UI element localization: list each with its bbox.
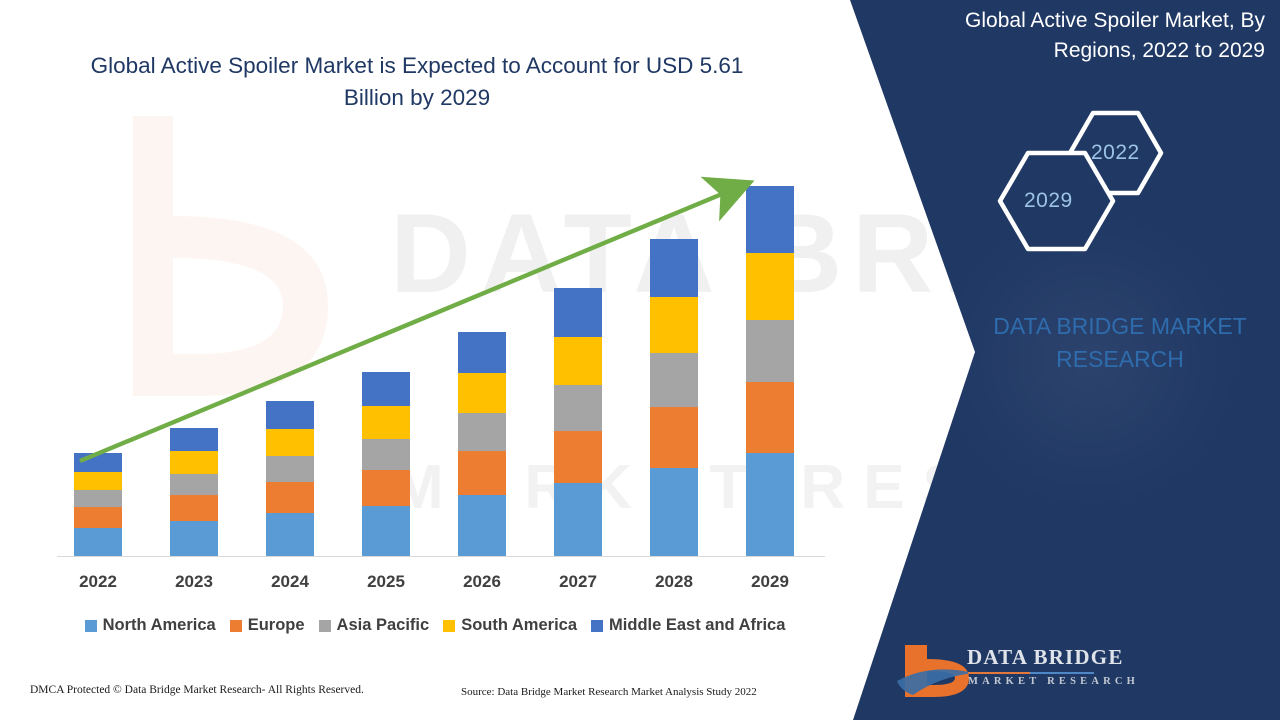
x-axis-label: 2029 xyxy=(746,572,794,592)
bar-segment xyxy=(554,483,602,556)
bar-segment xyxy=(266,482,314,513)
legend-item[interactable]: Europe xyxy=(230,616,305,635)
bar-column-2025 xyxy=(362,372,410,556)
logo-rule-blue xyxy=(1030,672,1094,674)
bar-segment xyxy=(650,297,698,353)
bar-segment xyxy=(458,332,506,373)
bar-column-2026 xyxy=(458,332,506,556)
footer-source: Source: Data Bridge Market Research Mark… xyxy=(461,686,757,698)
footer-copyright: DMCA Protected © Data Bridge Market Rese… xyxy=(30,684,364,696)
hexagon-back-label: 2022 xyxy=(1091,141,1140,165)
bar-segment xyxy=(746,320,794,383)
bar-column-2029 xyxy=(746,186,794,556)
logo-primary-text: DATA BRIDGE xyxy=(967,645,1124,670)
legend-label: South America xyxy=(461,616,577,635)
bar-segment xyxy=(746,453,794,556)
bar-segment xyxy=(74,453,122,472)
bar-segment xyxy=(170,495,218,521)
legend-item[interactable]: Middle East and Africa xyxy=(591,616,785,635)
bar-segment xyxy=(170,521,218,556)
x-axis-label: 2028 xyxy=(650,572,698,592)
bar-column-2028 xyxy=(650,239,698,556)
infographic-root: DATA BRIDGE MARKET RESEARCH Global Activ… xyxy=(0,0,1280,720)
bar-segment xyxy=(746,382,794,453)
bar-segment xyxy=(266,513,314,556)
bar-segment xyxy=(650,407,698,468)
bar-segment xyxy=(554,431,602,484)
legend-swatch-icon xyxy=(443,620,455,632)
bar-segment xyxy=(266,429,314,457)
bar-segment xyxy=(362,439,410,470)
chart-legend: North AmericaEuropeAsia PacificSouth Ame… xyxy=(57,616,827,635)
bar-segment xyxy=(458,495,506,556)
bar-segment xyxy=(74,507,122,528)
legend-swatch-icon xyxy=(319,620,331,632)
x-axis-label: 2027 xyxy=(554,572,602,592)
logo-rule-orange xyxy=(968,672,1030,674)
legend-label: Europe xyxy=(248,616,305,635)
bar-segment xyxy=(74,528,122,556)
bar-column-2024 xyxy=(266,401,314,556)
bar-segment xyxy=(650,468,698,556)
x-axis-label: 2025 xyxy=(362,572,410,592)
bar-column-2027 xyxy=(554,288,602,556)
bar-segment xyxy=(458,373,506,413)
bar-segment xyxy=(362,372,410,406)
bar-segment xyxy=(554,337,602,385)
legend-swatch-icon xyxy=(230,620,242,632)
legend-item[interactable]: North America xyxy=(85,616,216,635)
hexagon-front-label: 2029 xyxy=(1024,189,1073,213)
legend-item[interactable]: Asia Pacific xyxy=(319,616,430,635)
bar-segment xyxy=(170,474,218,495)
x-axis-label: 2026 xyxy=(458,572,506,592)
bar-segment xyxy=(746,186,794,254)
bar-column-2023 xyxy=(170,428,218,556)
bar-segment xyxy=(362,406,410,439)
bar-segment xyxy=(458,451,506,495)
legend-swatch-icon xyxy=(591,620,603,632)
bar-segment xyxy=(170,428,218,451)
bar-segment xyxy=(554,288,602,337)
x-axis-line xyxy=(57,556,825,557)
bar-segment xyxy=(650,353,698,407)
growth-arrow-icon xyxy=(0,0,860,720)
chart-plot-area: 20222023202420252026202720282029 xyxy=(0,0,860,720)
panel-title: Global Active Spoiler Market, By Regions… xyxy=(905,6,1265,67)
x-axis-label: 2024 xyxy=(266,572,314,592)
bar-segment xyxy=(554,385,602,431)
legend-item[interactable]: South America xyxy=(443,616,577,635)
x-axis-label: 2023 xyxy=(170,572,218,592)
legend-swatch-icon xyxy=(85,620,97,632)
legend-label: North America xyxy=(103,616,216,635)
bar-segment xyxy=(362,470,410,506)
hexagon-group: 2022 2029 xyxy=(980,108,1190,293)
bar-segment xyxy=(362,506,410,556)
bar-segment xyxy=(74,490,122,508)
bar-segment xyxy=(74,472,122,490)
bar-segment xyxy=(266,401,314,429)
bar-segment xyxy=(650,239,698,297)
bar-segment xyxy=(266,456,314,482)
logo-secondary-text: MARKET RESEARCH xyxy=(968,676,1139,687)
legend-label: Middle East and Africa xyxy=(609,616,785,635)
x-axis-label: 2022 xyxy=(74,572,122,592)
bar-segment xyxy=(458,413,506,451)
bar-column-2022 xyxy=(74,453,122,556)
bar-segment xyxy=(746,253,794,319)
bar-segment xyxy=(170,451,218,474)
brand-name: DATA BRIDGE MARKET RESEARCH xyxy=(960,310,1280,375)
legend-label: Asia Pacific xyxy=(337,616,430,635)
